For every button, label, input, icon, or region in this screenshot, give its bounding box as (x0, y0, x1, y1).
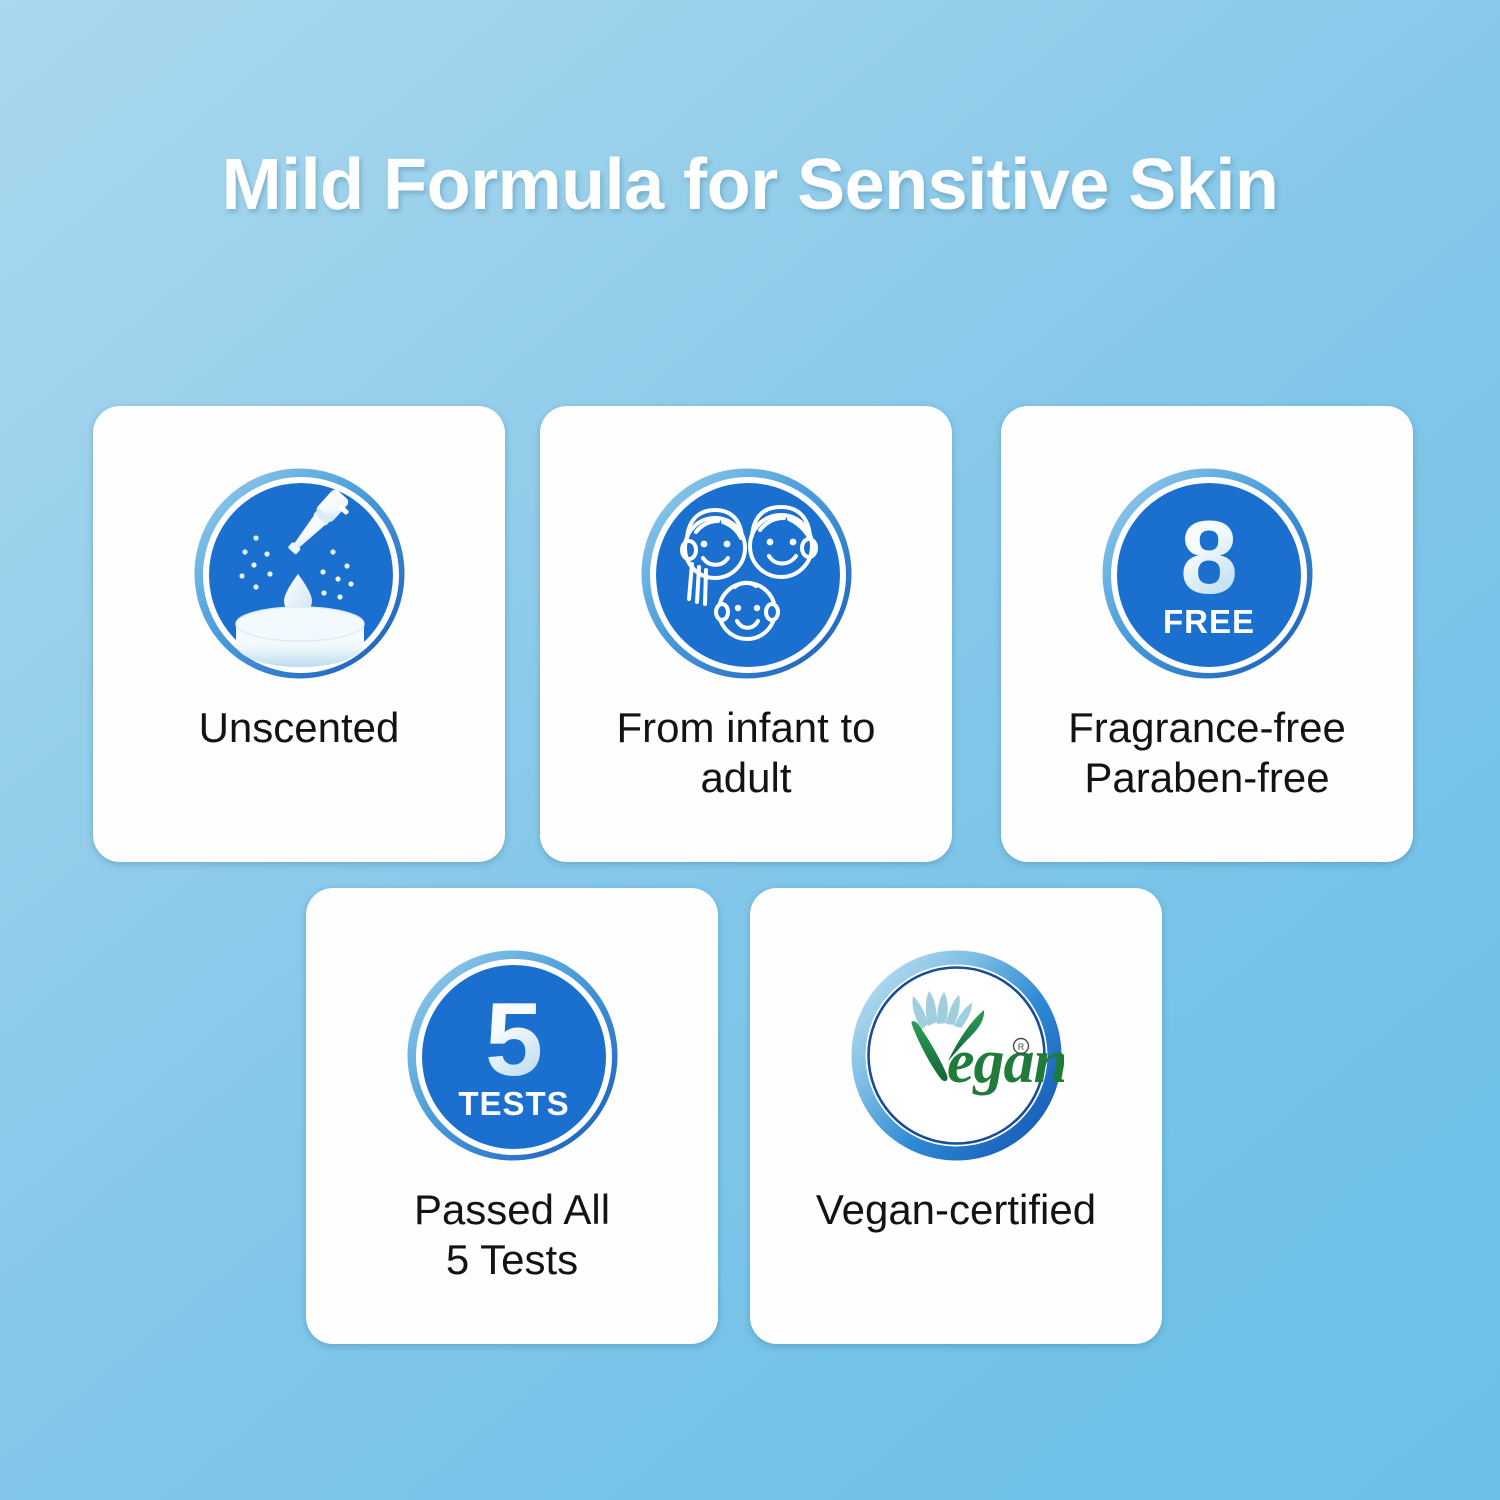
vegan-wordmark: egan (947, 1028, 1064, 1096)
feature-card-five-tests: 5 TESTS Passed All 5 Tests (306, 888, 718, 1344)
five-tests-badge-icon: 5 TESTS (405, 948, 620, 1163)
family-faces-icon (639, 466, 854, 681)
promo-graphic: Mild Formula for Sensitive Skin (0, 0, 1500, 1500)
badge-number: 5 (485, 982, 543, 1098)
eight-free-badge-icon: 8 FREE (1100, 466, 1315, 681)
feature-card-label: Passed All 5 Tests (306, 1185, 718, 1284)
badge-number: 8 (1180, 500, 1238, 616)
page-title: Mild Formula for Sensitive Skin (0, 144, 1500, 226)
feature-card-label: Vegan-certified (750, 1185, 1162, 1235)
svg-text:R: R (1017, 1042, 1024, 1052)
feature-card-infant-to-adult: From infant to adult (540, 406, 952, 862)
svg-text:egan: egan (947, 1028, 1064, 1096)
badge-subtext: FREE (1162, 603, 1254, 640)
feature-card-vegan-certified: egan R Vegan-certified (750, 888, 1162, 1344)
badge-subtext: TESTS (458, 1085, 569, 1122)
feature-card-unscented: Unscented (93, 406, 505, 862)
vegan-certified-logo-icon: egan R (849, 948, 1064, 1163)
feature-card-label: Fragrance-free Paraben-free (1001, 703, 1413, 802)
dropper-on-pad-icon (192, 466, 407, 681)
feature-card-label: From infant to adult (540, 703, 952, 802)
feature-card-eight-free: 8 FREE Fragrance-free Paraben-free (1001, 406, 1413, 862)
feature-card-label: Unscented (93, 703, 505, 753)
